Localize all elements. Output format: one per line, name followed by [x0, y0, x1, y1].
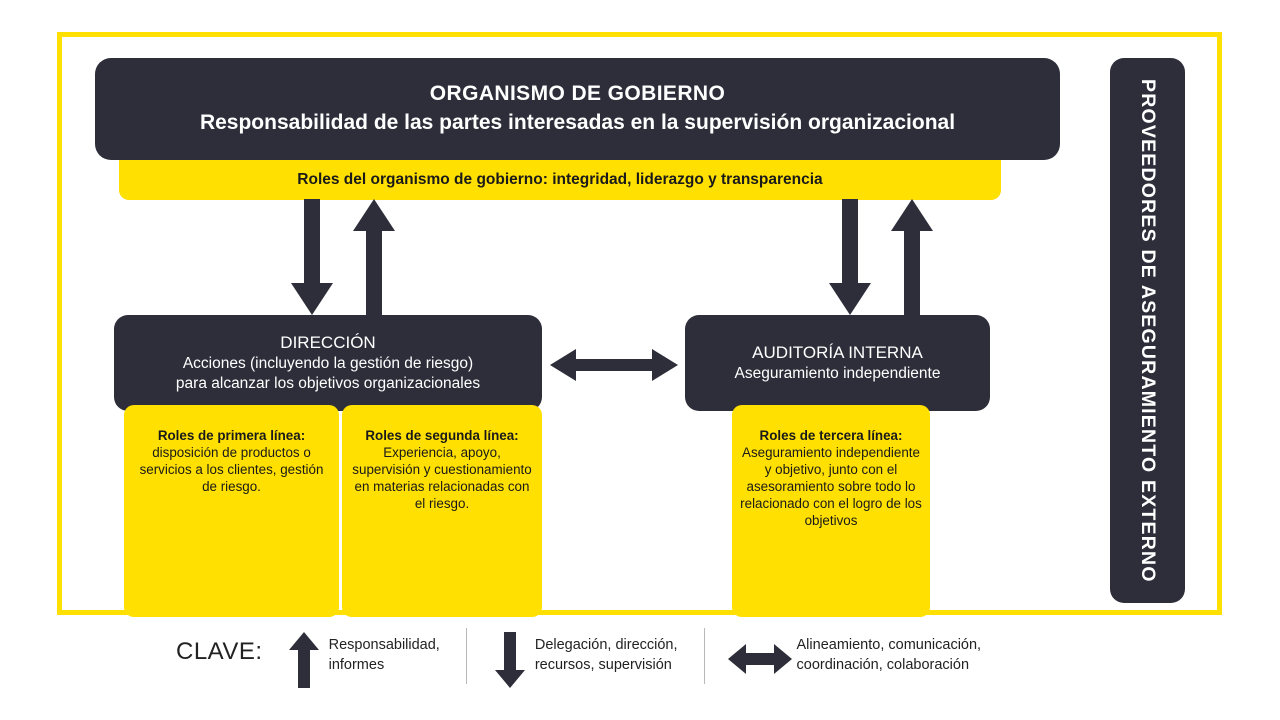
role-card-second-line-header: Roles de segunda línea:: [350, 427, 534, 444]
legend-text-accountability: Responsabilidad, informes: [329, 636, 440, 675]
arrow-up-icon: [353, 199, 395, 315]
diagram-frame: ORGANISMO DE GOBIERNO Responsabilidad de…: [57, 32, 1222, 615]
governing-body-roles-strip: Roles del organismo de gobierno: integri…: [119, 160, 1001, 200]
governing-body-box: ORGANISMO DE GOBIERNO Responsabilidad de…: [95, 58, 1060, 160]
legend-item-alignment: Alineamiento, comunicación, coordinación…: [725, 630, 982, 675]
legend-divider-2: [704, 628, 705, 684]
internal-audit-title: AUDITORÍA INTERNA: [752, 342, 923, 364]
internal-audit-box: AUDITORÍA INTERNA Aseguramiento independ…: [685, 315, 990, 411]
role-card-second-line-body: Experiencia, apoyo, supervisión y cuesti…: [352, 445, 531, 511]
arrow-up-icon: [281, 630, 327, 688]
governing-body-subtitle: Responsabilidad de las partes interesada…: [200, 109, 955, 136]
management-box: DIRECCIÓN Acciones (incluyendo la gestió…: [114, 315, 542, 411]
arrow-left-right-icon: [550, 349, 678, 381]
role-card-first-line-body: disposición de productos o servicios a l…: [140, 445, 324, 494]
role-card-second-line: Roles de segunda línea: Experiencia, apo…: [342, 405, 542, 617]
management-title: DIRECCIÓN: [280, 332, 375, 354]
legend-item-accountability: Responsabilidad, informes: [281, 630, 440, 688]
role-card-third-line: Roles de tercera línea: Aseguramiento in…: [732, 405, 930, 617]
management-line-1: Acciones (incluyendo la gestión de riesg…: [183, 354, 473, 374]
management-line-2: para alcanzar los objetivos organizacion…: [176, 374, 480, 394]
legend: CLAVE: Responsabilidad, informes Delegac…: [0, 622, 1280, 712]
legend-text-alignment: Alineamiento, comunicación, coordinación…: [797, 636, 982, 675]
external-assurance-providers-label: PROVEEDORES DE ASEGURAMIENTO EXTERNO: [1136, 79, 1159, 583]
arrow-down-icon: [487, 630, 533, 688]
role-card-third-line-header: Roles de tercera línea:: [740, 427, 922, 444]
legend-text-delegation: Delegación, dirección, recursos, supervi…: [535, 636, 678, 675]
legend-item-delegation: Delegación, dirección, recursos, supervi…: [487, 630, 678, 688]
arrow-left-right-icon: [725, 630, 795, 674]
legend-divider-1: [466, 628, 467, 684]
arrow-up-icon: [891, 199, 933, 315]
internal-audit-subtitle: Aseguramiento independiente: [735, 364, 941, 384]
legend-title: CLAVE:: [176, 638, 263, 666]
role-card-first-line: Roles de primera línea: disposición de p…: [124, 405, 339, 617]
arrow-down-icon: [291, 199, 333, 315]
arrow-down-icon: [829, 199, 871, 315]
external-assurance-providers-bar: PROVEEDORES DE ASEGURAMIENTO EXTERNO: [1110, 58, 1185, 603]
role-card-third-line-body: Aseguramiento independiente y objetivo, …: [740, 445, 922, 528]
role-card-first-line-header: Roles de primera línea:: [132, 427, 331, 444]
governing-body-title: ORGANISMO DE GOBIERNO: [430, 81, 725, 107]
